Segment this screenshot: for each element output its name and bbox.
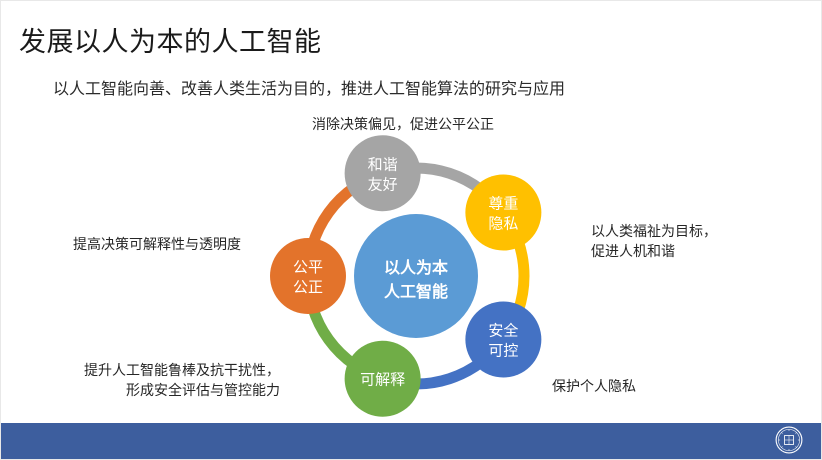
cycle-node-label-privacy-1: 尊重: [488, 196, 518, 213]
callout-harmony: 以人类福祉为目标， 促进人机和谐: [591, 221, 717, 262]
arc-gray: [414, 168, 481, 190]
university-seal-icon: [775, 426, 803, 454]
arc-green: [313, 308, 354, 365]
cycle-node-safety[interactable]: 安全可控: [465, 301, 541, 377]
page-title: 发展以人为本的人工智能: [19, 20, 322, 59]
callout-safety: 提升人工智能鲁棒及抗干扰性， 形成安全评估与管控能力: [84, 360, 280, 401]
cycle-center-node[interactable]: 以人为本人工智能: [354, 214, 478, 338]
cycle-diagram: 公平公正和谐友好尊重隐私安全可控可解释 以人为本人工智能: [266, 131, 566, 421]
cycle-node-label-fairness-2: 公正: [293, 279, 323, 296]
cycle-center-layer: 以人为本人工智能: [354, 214, 478, 338]
cycle-node-explainable[interactable]: 可解释: [345, 341, 421, 417]
cycle-node-harmony[interactable]: 和谐友好: [345, 135, 421, 211]
cycle-node-privacy[interactable]: 尊重隐私: [465, 175, 541, 251]
callout-explainability: 提高决策可解释性与透明度: [73, 234, 241, 254]
cycle-node-label-safety-2: 可控: [488, 342, 518, 359]
callout-safety-line1: 提升人工智能鲁棒及抗干扰性，: [84, 360, 280, 380]
cycle-node-fairness[interactable]: 公平公正: [270, 238, 346, 314]
cycle-node-label-explainable-1: 可解释: [360, 372, 405, 389]
callout-harmony-line1: 以人类福祉为目标，: [591, 221, 717, 241]
cycle-center-label-1: 以人为本: [384, 258, 448, 277]
slide-canvas: 发展以人为本的人工智能 以人工智能向善、改善人类生活为目的，推进人工智能算法的研…: [0, 0, 822, 460]
cycle-node-label-harmony-1: 和谐: [368, 156, 398, 173]
cycle-node-circle-fairness: [270, 238, 346, 314]
cycle-node-label-privacy-2: 隐私: [488, 216, 518, 233]
arc-blue: [414, 362, 481, 384]
cycle-node-label-harmony-2: 友好: [368, 176, 398, 193]
callout-harmony-line2: 促进人机和谐: [591, 241, 717, 261]
cycle-center-label-2: 人工智能: [384, 282, 448, 301]
page-subtitle: 以人工智能向善、改善人类生活为目的，推进人工智能算法的研究与应用: [53, 75, 565, 99]
arc-orange: [313, 188, 354, 245]
footer-bar: [1, 423, 821, 459]
cycle-node-label-safety-1: 安全: [488, 321, 518, 339]
cycle-node-label-fairness-1: 公平: [293, 259, 323, 276]
callout-safety-line2: 形成安全评估与管控能力: [84, 380, 280, 400]
arc-yellow: [518, 241, 524, 311]
